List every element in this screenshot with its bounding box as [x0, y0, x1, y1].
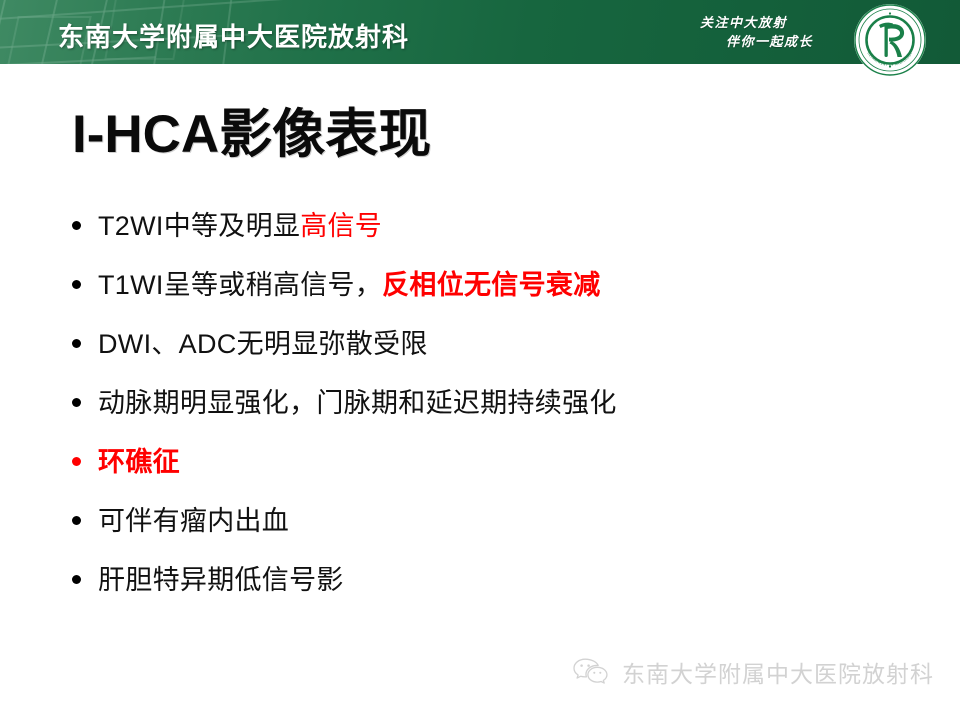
- footer-account-name: 东南大学附属中大医院放射科: [622, 655, 934, 689]
- bullet-segment: DWI、ADC无明显弥散受限: [98, 329, 428, 359]
- list-item: DWI、ADC无明显弥散受限: [70, 314, 870, 373]
- bullet-marker-icon: [72, 457, 81, 466]
- bullet-marker-icon: [72, 221, 81, 230]
- list-item: 环礁征: [70, 432, 870, 491]
- page-title: I-HCA影像表现: [72, 92, 431, 168]
- bullet-segment-highlight: 环礁征: [98, 447, 180, 477]
- bullet-text: T2WI中等及明显高信号: [98, 209, 382, 243]
- bullet-segment-highlight: 反相位无信号衰减: [382, 270, 600, 300]
- bullet-marker-icon: [72, 516, 81, 525]
- header-slogan-line-2: 伴你一起成长: [700, 33, 850, 52]
- bullet-segment: T1WI呈等或稍高信号，: [98, 270, 382, 300]
- wechat-icon: [572, 657, 610, 687]
- list-item: 可伴有瘤内出血: [70, 491, 870, 550]
- list-item: 动脉期明显强化，门脉期和延迟期持续强化: [70, 373, 870, 432]
- list-item: T2WI中等及明显高信号: [70, 196, 870, 255]
- bullet-marker-icon: [72, 339, 81, 348]
- header-org-title: 东南大学附属中大医院放射科: [58, 17, 409, 54]
- bullet-text: T1WI呈等或稍高信号，反相位无信号衰减: [98, 268, 601, 302]
- bullet-text: 环礁征: [98, 445, 180, 479]
- bullet-segment-highlight: 高信号: [300, 211, 382, 241]
- bullet-marker-icon: [72, 398, 81, 407]
- bullet-segment: 动脉期明显强化，门脉期和延迟期持续强化: [98, 388, 617, 418]
- bullet-text: 动脉期明显强化，门脉期和延迟期持续强化: [98, 386, 617, 420]
- bullet-marker-icon: [72, 280, 81, 289]
- hospital-circular-emblem-icon: 东南大学附属中大医院放射科 DEPARTMENT OF RADIOLOGY: [853, 3, 927, 77]
- bullet-text: 可伴有瘤内出血: [98, 504, 289, 538]
- footer-wechat-credit: 东南大学附属中大医院放射科: [572, 655, 934, 689]
- bullet-text: DWI、ADC无明显弥散受限: [98, 327, 428, 361]
- bullet-segment: 肝胆特异期低信号影: [98, 565, 344, 595]
- header-slogan-line-1: 关注中大放射: [700, 14, 850, 33]
- bullet-marker-icon: [72, 575, 81, 584]
- bullet-text: 肝胆特异期低信号影: [98, 563, 344, 597]
- list-item: T1WI呈等或稍高信号，反相位无信号衰减: [70, 255, 870, 314]
- list-item: 肝胆特异期低信号影: [70, 550, 870, 609]
- bullet-list: T2WI中等及明显高信号 T1WI呈等或稍高信号，反相位无信号衰减 DWI、AD…: [70, 196, 870, 609]
- bullet-segment: 可伴有瘤内出血: [98, 506, 289, 536]
- presentation-slide: 东南大学附属中大医院放射科 关注中大放射 伴你一起成长 东南大学附属中大医院放射…: [0, 0, 960, 720]
- header-slogan: 关注中大放射 伴你一起成长: [700, 14, 850, 52]
- bullet-segment: T2WI中等及明显: [98, 211, 300, 241]
